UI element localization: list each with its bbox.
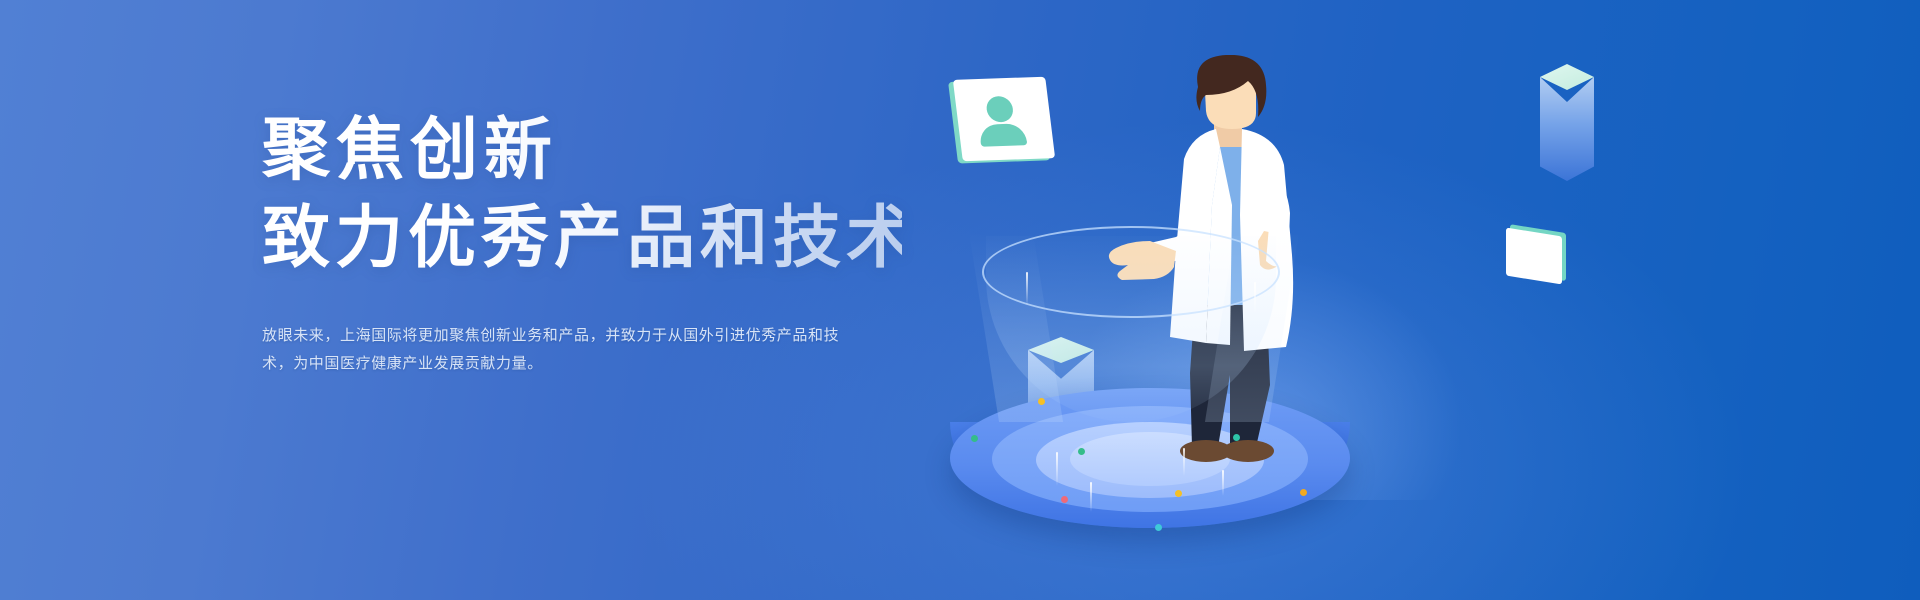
dot-orange-1	[1300, 489, 1307, 496]
floating-card-right-icon	[1506, 228, 1562, 285]
light-streak-6	[1222, 470, 1224, 496]
dot-green-1	[971, 435, 978, 442]
light-streak-2	[1254, 282, 1256, 314]
banner-copy: 聚焦创新 致力优秀产品和技术 放眼未来，上海国际将更加聚焦创新业务和产品，并致力…	[262, 104, 902, 378]
light-streak-4	[1090, 482, 1092, 512]
light-streak-3	[1056, 452, 1058, 486]
hero-banner: 聚焦创新 致力优秀产品和技术 放眼未来，上海国际将更加聚焦创新业务和产品，并致力…	[0, 0, 1920, 600]
light-streak-5	[1183, 448, 1185, 476]
isometric-block-tall-right-icon	[1540, 64, 1594, 176]
dot-cyan-1	[1155, 524, 1162, 531]
dot-pink-1	[1061, 496, 1068, 503]
block-body	[1540, 77, 1594, 181]
dot-teal-1	[1233, 434, 1240, 441]
dot-yellow-1	[1038, 398, 1045, 405]
card-face	[1506, 228, 1562, 285]
light-streak-1	[1026, 272, 1028, 306]
illustration-scene	[930, 0, 1920, 600]
dot-green-2	[1078, 448, 1085, 455]
user-profile-card-icon	[953, 77, 1055, 162]
headline-line-1: 聚焦创新	[262, 104, 902, 196]
headline-line-2: 致力优秀产品和技术	[262, 192, 902, 284]
banner-description: 放眼未来，上海国际将更加聚焦创新业务和产品，并致力于从国外引进优秀产品和技术，为…	[262, 322, 862, 378]
dot-yellow-2	[1175, 490, 1182, 497]
